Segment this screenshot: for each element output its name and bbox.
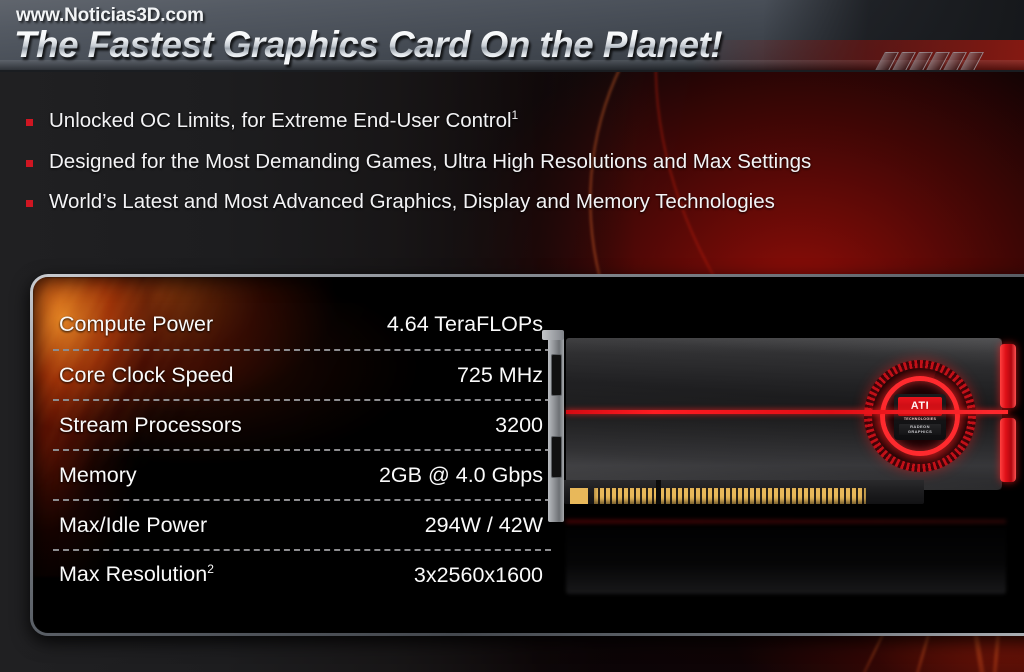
spec-label: Max Resolution2 <box>59 562 214 587</box>
bracket-tab <box>542 330 564 340</box>
table-row: Stream Processors 3200 <box>53 399 551 449</box>
footnote-marker: 1 <box>512 108 519 122</box>
card-shroud: ATI TECHNOLOGIES RADEON GRAPHICS <box>566 338 1002 490</box>
table-row: Max/Idle Power 294W / 42W <box>53 499 551 549</box>
table-row: Memory 2GB @ 4.0 Gbps <box>53 449 551 499</box>
dvi-port <box>551 354 562 396</box>
pcie-gold-fingers <box>594 488 866 504</box>
list-item-label: Designed for the Most Demanding Games, U… <box>49 149 811 175</box>
list-item-label: Unlocked OC Limits, for Extreme End-User… <box>49 108 518 134</box>
ati-logo-subtext: TECHNOLOGIES <box>904 417 936 421</box>
spec-label: Compute Power <box>59 312 213 337</box>
table-row: Compute Power 4.64 TeraFLOPs <box>53 299 551 349</box>
list-item: Designed for the Most Demanding Games, U… <box>26 149 1006 175</box>
table-row: Core Clock Speed 725 MHz <box>53 349 551 399</box>
card-end-cap-top <box>1000 344 1016 408</box>
diagonal-stripes-decoration <box>871 52 1005 72</box>
pcie-notch <box>656 480 661 504</box>
spec-table: Compute Power 4.64 TeraFLOPs Core Clock … <box>53 299 551 599</box>
card-fan: ATI TECHNOLOGIES RADEON GRAPHICS <box>864 360 976 472</box>
spec-label: Memory <box>59 463 137 488</box>
feature-bullet-list: Unlocked OC Limits, for Extreme End-User… <box>26 108 1006 230</box>
list-item-label: World’s Latest and Most Advanced Graphic… <box>49 189 775 215</box>
spec-value: 294W / 42W <box>425 513 543 538</box>
radeon-badge: RADEON GRAPHICS <box>899 424 941 435</box>
spec-label: Core Clock Speed <box>59 363 233 388</box>
product-image-graphics-card: ATI TECHNOLOGIES RADEON GRAPHICS <box>548 330 1024 600</box>
card-red-accent-line <box>566 410 1008 414</box>
footnote-marker: 2 <box>207 562 214 576</box>
slide-canvas: www.Noticias3D.com The Fastest Graphics … <box>0 0 1024 672</box>
table-row: Max Resolution2 3x2560x1600 <box>53 549 551 599</box>
spec-value: 4.64 TeraFLOPs <box>387 312 543 337</box>
list-item: Unlocked OC Limits, for Extreme End-User… <box>26 108 1006 134</box>
spec-label: Stream Processors <box>59 413 242 438</box>
square-bullet-icon <box>26 160 33 167</box>
spec-label: Max/Idle Power <box>59 513 207 538</box>
spec-value: 3x2560x1600 <box>414 563 543 588</box>
list-item: World’s Latest and Most Advanced Graphic… <box>26 189 1006 215</box>
spec-value: 2GB @ 4.0 Gbps <box>379 463 543 488</box>
page-title: The Fastest Graphics Card On the Planet! <box>14 24 722 66</box>
slide-header: www.Noticias3D.com The Fastest Graphics … <box>0 0 1024 72</box>
square-bullet-icon <box>26 200 33 207</box>
spec-value: 3200 <box>495 413 543 438</box>
fan-hub: ATI TECHNOLOGIES RADEON GRAPHICS <box>894 394 946 440</box>
dvi-port <box>551 436 562 478</box>
card-io-bracket <box>548 332 564 522</box>
pcie-fingers-short <box>570 488 588 504</box>
square-bullet-icon <box>26 119 33 126</box>
spec-value: 725 MHz <box>457 363 543 388</box>
card-end-cap-bottom <box>1000 418 1016 482</box>
card-reflection-red-line <box>566 520 1006 523</box>
